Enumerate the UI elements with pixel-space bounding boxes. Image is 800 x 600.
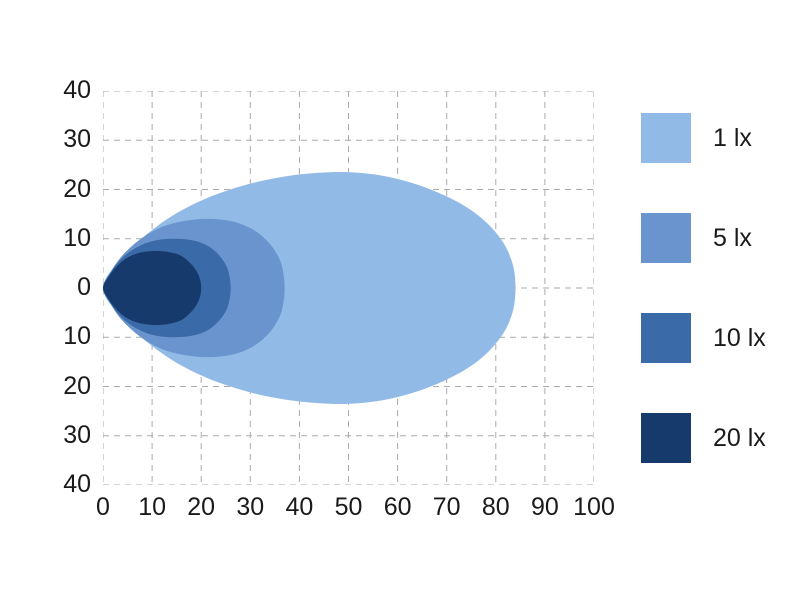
plot-svg	[103, 91, 594, 485]
legend-item-label: 20 lx	[713, 426, 766, 451]
y-axis-tick-label: 30	[45, 127, 91, 152]
legend-swatch-icon	[641, 213, 691, 263]
y-axis-tick-label: 20	[45, 177, 91, 202]
legend-item-5-lx[interactable]: 5 lx	[641, 213, 752, 263]
y-axis-tick-label: 20	[45, 374, 91, 399]
y-axis-tick-label: 10	[45, 226, 91, 251]
legend-swatch-icon	[641, 413, 691, 463]
legend-item-20-lx[interactable]: 20 lx	[641, 413, 766, 463]
y-axis-tick-label: 40	[45, 472, 91, 497]
legend-item-10-lx[interactable]: 10 lx	[641, 313, 766, 363]
x-axis-tick-label: 100	[564, 495, 624, 520]
plot-area	[103, 91, 594, 485]
y-axis-tick-label: 40	[45, 78, 91, 103]
legend-item-label: 5 lx	[713, 226, 752, 251]
legend-swatch-icon	[641, 313, 691, 363]
y-axis-tick-label: 30	[45, 423, 91, 448]
legend-item-label: 10 lx	[713, 326, 766, 351]
y-axis-tick-label: 0	[45, 275, 91, 300]
legend-item-1-lx[interactable]: 1 lx	[641, 113, 752, 163]
isolux-beam-chart: 40302010010203040 0102030405060708090100…	[0, 0, 800, 600]
legend-swatch-icon	[641, 113, 691, 163]
contour-areas	[103, 172, 515, 404]
y-axis-tick-label: 10	[45, 324, 91, 349]
chart-legend: 1 lx5 lx10 lx20 lx	[641, 113, 791, 465]
legend-item-label: 1 lx	[713, 126, 752, 151]
